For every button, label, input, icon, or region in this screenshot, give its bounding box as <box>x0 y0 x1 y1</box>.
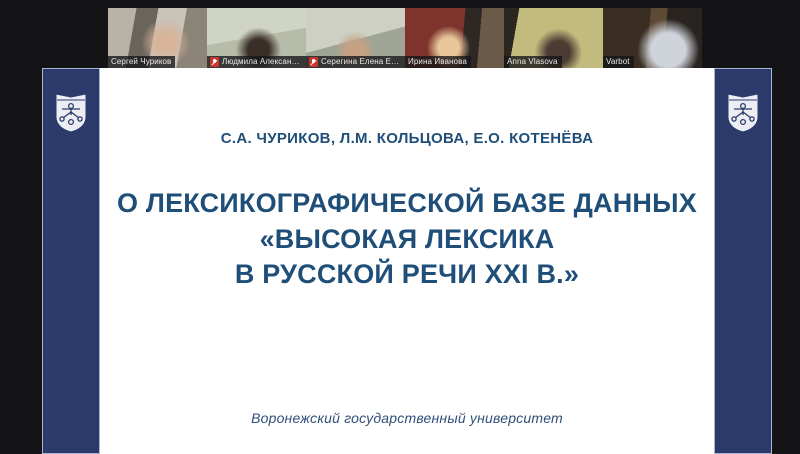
participant-tile[interactable]: Людмила Александро... <box>207 8 306 68</box>
slide-affiliation: Воронежский государственный университет <box>100 410 714 426</box>
participant-name: Anna Vlasova <box>507 57 558 67</box>
slide-right-band <box>714 68 772 454</box>
participant-tile[interactable]: Anna Vlasova <box>504 8 603 68</box>
slide-authors: С.А. ЧУРИКОВ, Л.М. КОЛЬЦОВА, Е.О. КОТЕНЁ… <box>100 130 714 147</box>
slide-title-line: О ЛЕКСИКОГРАФИЧЕСКОЙ БАЗЕ ДАННЫХ <box>100 186 714 222</box>
participant-name: Сергей Чуриков <box>111 57 171 67</box>
slide-left-band <box>42 68 100 454</box>
participant-name-bar: Серегина Елена Евген... <box>306 56 405 68</box>
participant-name: Людмила Александро... <box>222 57 302 67</box>
participant-tile[interactable]: Ирина Иванова <box>405 8 504 68</box>
slide-content-area: С.А. ЧУРИКОВ, Л.М. КОЛЬЦОВА, Е.О. КОТЕНЁ… <box>100 68 714 454</box>
participant-tile[interactable]: Серегина Елена Евген... <box>306 8 405 68</box>
slide-title: О ЛЕКСИКОГРАФИЧЕСКОЙ БАЗЕ ДАННЫХ «ВЫСОКА… <box>100 186 714 293</box>
participant-video-strip: Сергей Чуриков Людмила Александро... Сер… <box>0 0 800 68</box>
participant-name: Varbot <box>606 57 630 67</box>
participant-name: Серегина Елена Евген... <box>321 57 401 67</box>
microphone-muted-icon <box>210 57 219 67</box>
participant-name-bar: Людмила Александро... <box>207 56 306 68</box>
slide-title-line: В РУССКОЙ РЕЧИ XXI В.» <box>100 257 714 293</box>
participant-name: Ирина Иванова <box>408 57 467 67</box>
slide-title-line: «ВЫСОКАЯ ЛЕКСИКА <box>100 222 714 258</box>
participant-tile[interactable]: Сергей Чуриков <box>108 8 207 68</box>
participant-name-bar: Ирина Иванова <box>405 56 471 68</box>
participant-tile[interactable]: Varbot <box>603 8 702 68</box>
participant-name-bar: Сергей Чуриков <box>108 56 175 68</box>
screen-share-view: Сергей Чуриков Людмила Александро... Сер… <box>0 0 800 454</box>
microphone-muted-icon <box>309 57 318 67</box>
participant-name-bar: Anna Vlasova <box>504 56 562 68</box>
vsu-shield-emblem-icon <box>54 91 88 133</box>
participant-name-bar: Varbot <box>603 56 634 68</box>
presentation-slide: С.А. ЧУРИКОВ, Л.М. КОЛЬЦОВА, Е.О. КОТЕНЁ… <box>42 68 772 454</box>
vsu-shield-emblem-icon <box>726 91 760 133</box>
